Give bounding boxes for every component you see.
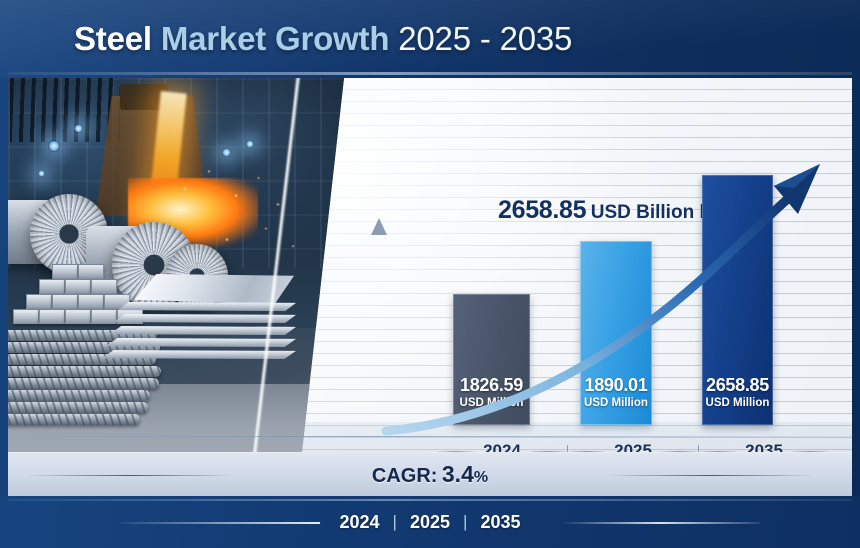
steel-ingot [39, 279, 65, 294]
bar-2035-label: 2658.85 USD Million [702, 375, 773, 411]
work-light [74, 124, 83, 133]
footer-year-2024: 2024 [327, 512, 393, 533]
page-title: Steel Market Growth 2025 - 2035 [74, 20, 572, 58]
bar-2025[interactable]: 1890.01 USD Million [580, 241, 652, 425]
cagr-line-left [30, 475, 230, 476]
steel-ingot [91, 279, 117, 294]
headline-value: 2658.85 [498, 196, 586, 224]
cagr-value: 3.4 [442, 461, 474, 487]
footer-year-list: 2024 | 2025 | 2035 [327, 512, 534, 533]
work-light [246, 140, 254, 148]
bar-2024-unit: USD Million [453, 396, 530, 411]
work-light [38, 170, 45, 177]
bar-2024-label: 1826.59 USD Million [453, 375, 530, 411]
infographic-canvas: Steel Market Growth 2025 - 2035 [0, 0, 860, 548]
steel-ingot [13, 309, 39, 324]
rebar-rod [8, 414, 140, 425]
cagr-line-right [610, 475, 810, 476]
footer-year-2035: 2035 [467, 512, 533, 533]
footer-line-left [120, 522, 320, 524]
rebar-rod [8, 366, 161, 377]
steel-ingot [65, 279, 91, 294]
footer-line-right [560, 522, 760, 524]
header-divider [8, 72, 852, 75]
steel-ingot [52, 294, 78, 309]
bar-2035-unit: USD Million [702, 396, 773, 411]
bar-2035[interactable]: 2658.85 USD Million [702, 175, 773, 425]
title-year-range: 2025 - 2035 [398, 20, 572, 57]
footer-year-2025: 2025 [397, 512, 463, 533]
steel-ingot [65, 309, 91, 324]
steel-ingot [78, 294, 104, 309]
cagr-percent-sign: % [474, 469, 488, 486]
bar-2025-unit: USD Million [580, 396, 652, 411]
cagr-text: CAGR: 3.4% [372, 461, 488, 488]
steel-ingot [78, 264, 104, 279]
header: Steel Market Growth 2025 - 2035 [0, 0, 860, 78]
cagr-strip: CAGR: 3.4% [8, 452, 852, 496]
steel-ingot [39, 309, 65, 324]
footer-separator: | [393, 512, 397, 532]
cagr-label: CAGR: [372, 465, 438, 487]
steel-ingot [91, 309, 117, 324]
bar-2024[interactable]: 1826.59 USD Million [453, 294, 530, 425]
title-word-steel: Steel [74, 20, 152, 57]
steel-ingot [26, 294, 52, 309]
work-light [48, 140, 60, 152]
steel-factory-photo [8, 78, 344, 496]
steel-ingot [52, 264, 78, 279]
bar-2035-value: 2658.85 [702, 375, 773, 396]
footer-divider [8, 499, 852, 501]
rebar-rod [8, 390, 150, 401]
bar-2024-value: 1826.59 [453, 375, 530, 396]
main-stage: 2658.85 USD Billion by 2035 1826.59 USD … [8, 78, 852, 496]
footer-separator: | [463, 512, 467, 532]
rebar-rod [8, 402, 148, 413]
bar-2025-value: 1890.01 [580, 375, 652, 396]
hanging-pipes [10, 78, 120, 142]
bar-2025-label: 1890.01 USD Million [580, 375, 652, 411]
title-word-market-growth: Market Growth [161, 20, 389, 57]
footer: 2024 | 2025 | 2035 [0, 496, 860, 548]
rebar-rod [8, 378, 159, 389]
